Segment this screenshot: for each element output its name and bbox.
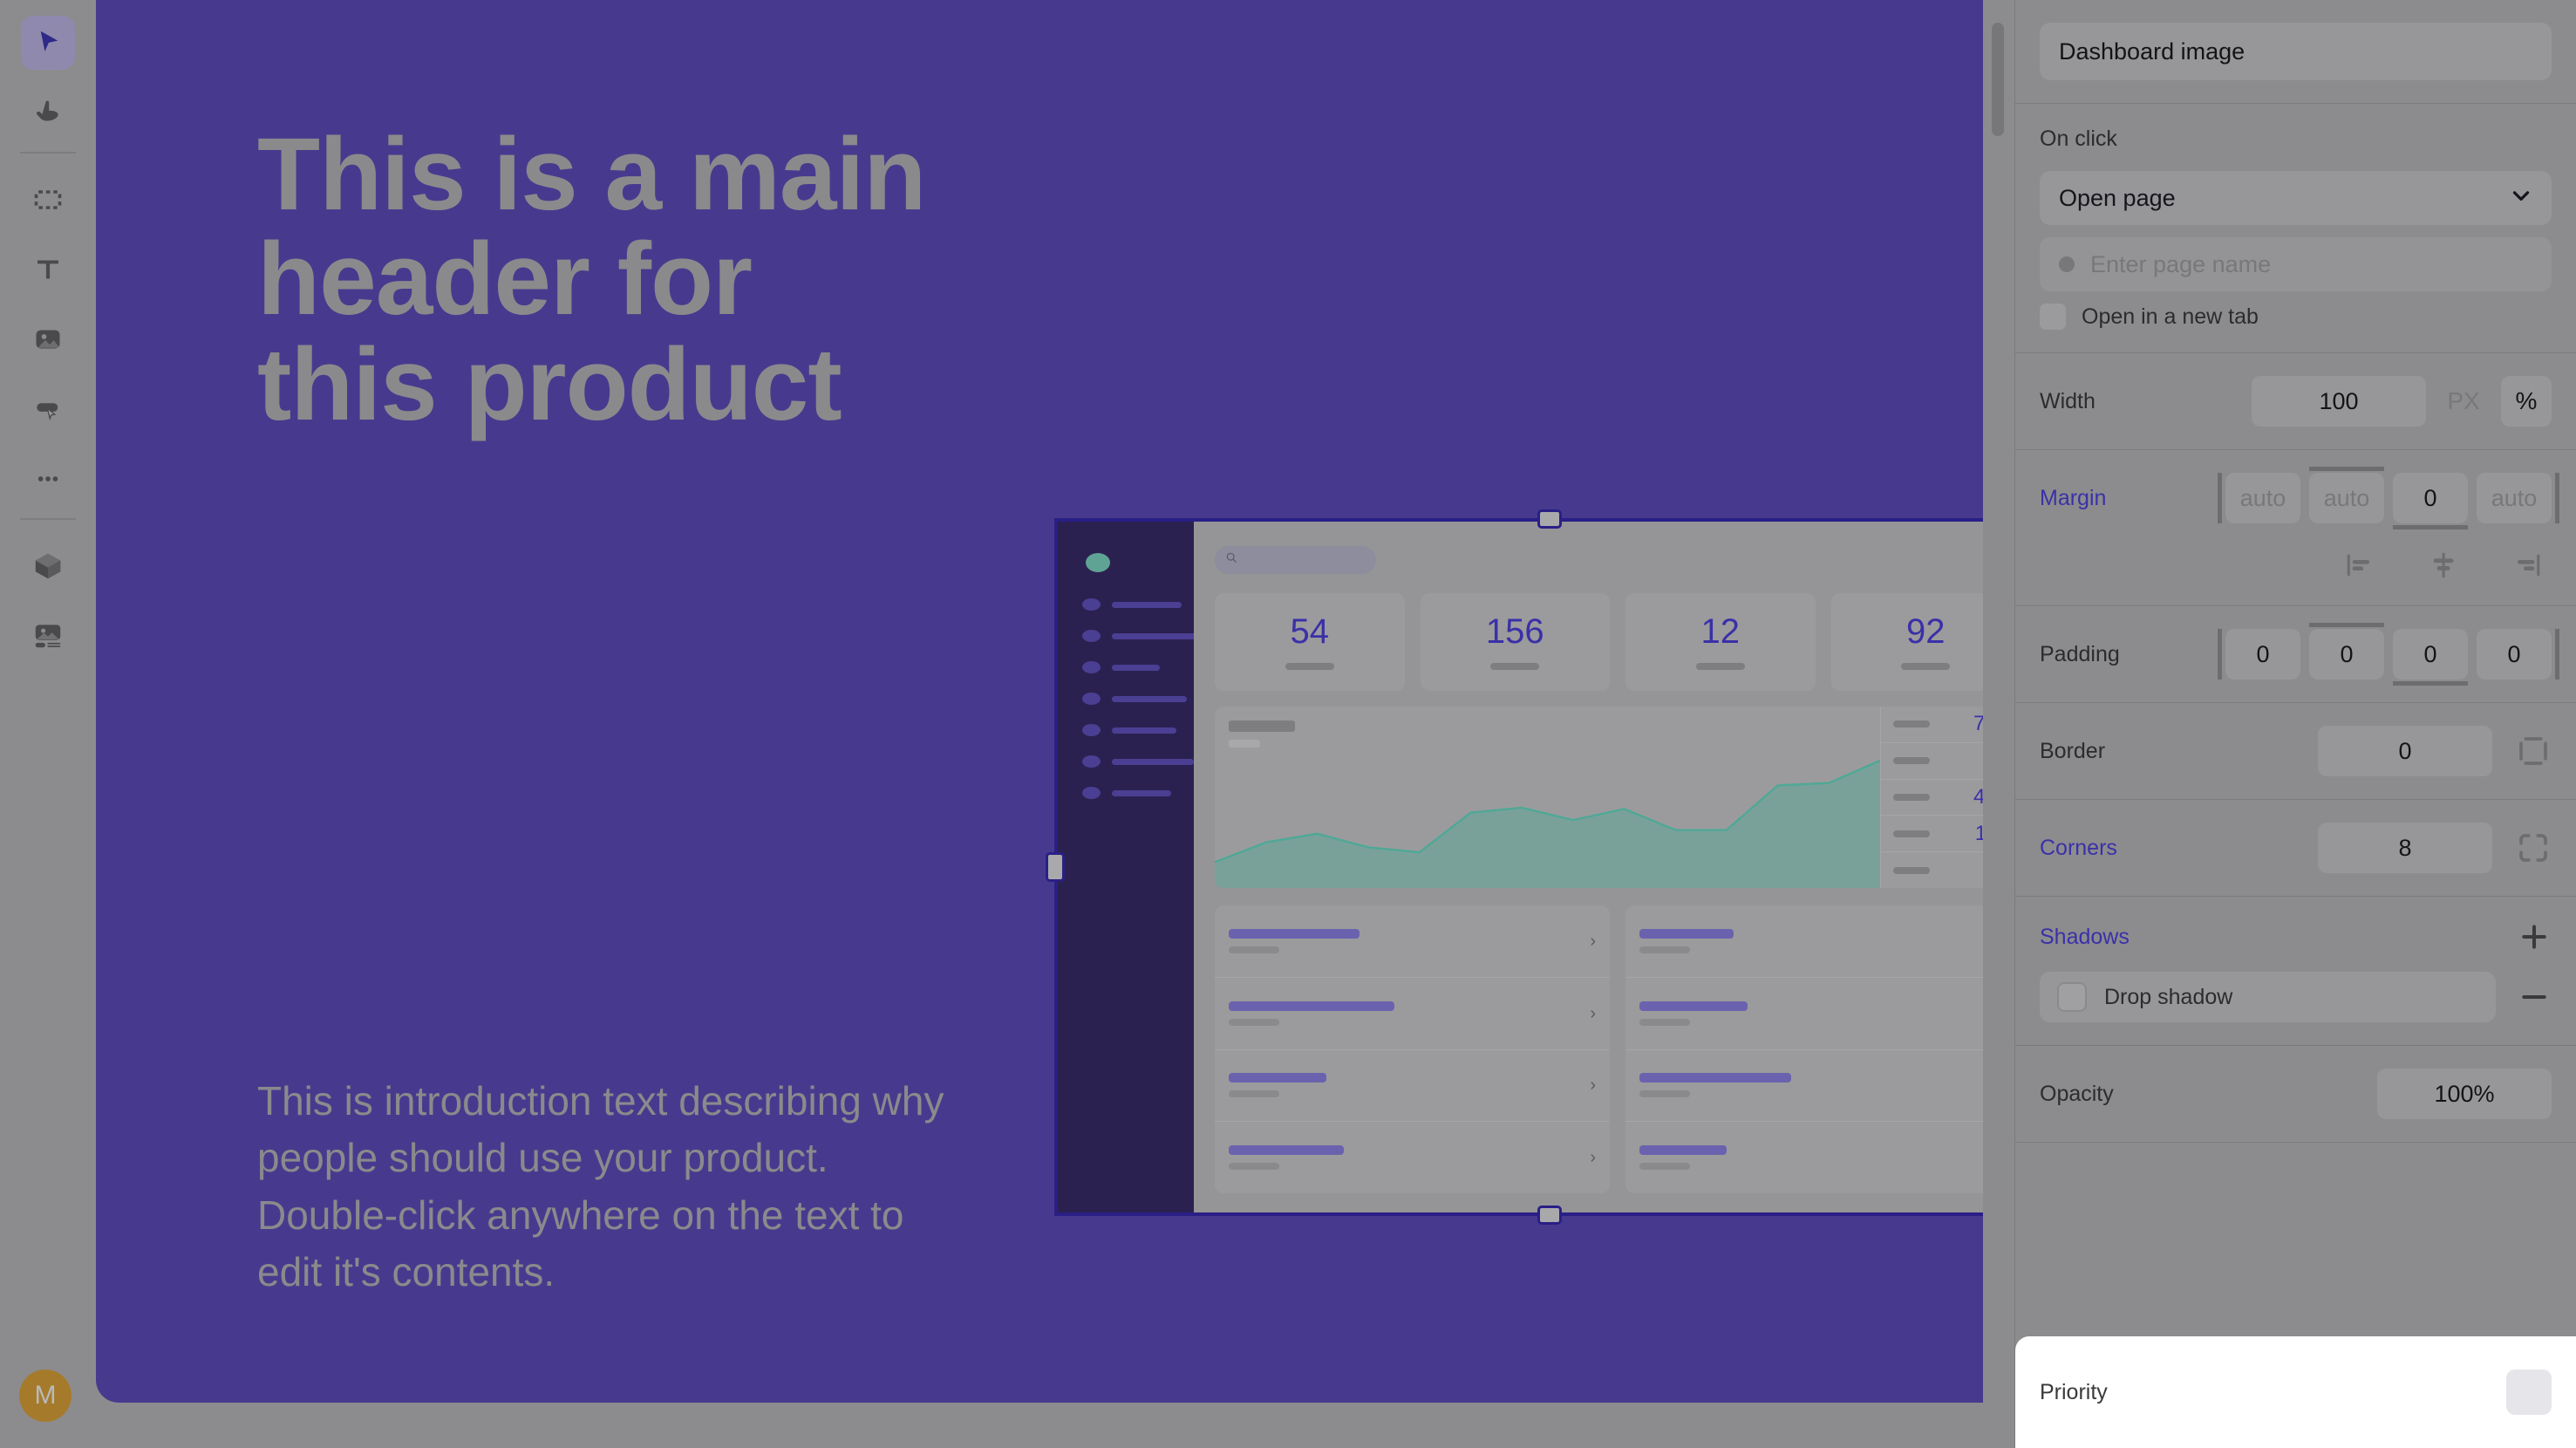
editor-canvas-area[interactable]: This is a main header for this product T…: [96, 0, 2014, 1448]
mock-chart-svg: [1215, 757, 1880, 888]
shadow-item: Drop shadow: [2040, 972, 2552, 1022]
page-canvas[interactable]: This is a main header for this product T…: [96, 0, 2014, 1403]
image-icon: [32, 324, 64, 355]
corners-controls: 8: [2318, 823, 2552, 873]
button-tool[interactable]: [21, 382, 75, 436]
cube-icon: [31, 550, 65, 583]
mock-stat-value: 54: [1291, 614, 1330, 649]
margin-inputs: auto auto 0 auto: [2106, 473, 2552, 523]
mock-main-area: 54 156 12 92: [1194, 522, 2014, 1212]
width-unit-px[interactable]: PX: [2438, 376, 2489, 427]
mock-list-row-text: [1229, 1001, 1394, 1026]
on-click-action-value: Open page: [2059, 185, 2176, 212]
mock-list-row-text: [1229, 1073, 1326, 1097]
search-icon: [1225, 551, 1238, 569]
mock-nav-label: [1112, 665, 1160, 671]
mock-nav-label: [1112, 790, 1171, 796]
toolbar-divider-2: [20, 518, 76, 520]
mock-list-row-text: [1639, 1073, 1791, 1097]
margin-bottom-input[interactable]: 0: [2393, 473, 2468, 523]
container-tool[interactable]: [21, 173, 75, 227]
margin-left-edge-indicator: [2218, 473, 2222, 523]
corners-section: Corners 8: [2015, 800, 2576, 897]
mock-nav-dot-icon: [1082, 598, 1101, 611]
mock-kpi-label: [1893, 757, 1930, 764]
text-tool[interactable]: [21, 242, 75, 297]
mock-list-row-sub: [1229, 946, 1279, 953]
element-name-section: Dashboard image: [2015, 0, 2576, 104]
open-new-tab-row[interactable]: Open in a new tab: [2040, 304, 2552, 330]
media-card-icon: [31, 619, 65, 652]
mock-stat-card: 54: [1215, 593, 1405, 691]
mock-nav-dot-icon: [1082, 693, 1101, 705]
margin-bottom-cell: 0: [2393, 473, 2468, 523]
mock-nav-dot-icon: [1082, 630, 1101, 642]
mock-kpi-label: [1893, 794, 1930, 801]
padding-left-cell: 0: [2225, 629, 2300, 680]
mock-stat-label: [1901, 663, 1950, 670]
text-t-icon: [32, 254, 64, 285]
padding-inputs: 0 0 0 0: [2120, 629, 2552, 680]
more-tool[interactable]: [21, 452, 75, 506]
mock-list-card: › › › ›: [1215, 905, 1610, 1193]
mock-chart-card: 732 34 467 112 87: [1215, 707, 2014, 888]
width-label: Width: [2040, 389, 2096, 414]
margin-left-input[interactable]: auto: [2225, 473, 2300, 523]
mock-logo-icon: [1086, 553, 1110, 572]
mock-stat-label: [1696, 663, 1745, 670]
open-new-tab-checkbox[interactable]: [2040, 304, 2066, 330]
padding-right-cell: 0: [2477, 629, 2552, 680]
minus-icon[interactable]: [2517, 980, 2552, 1014]
margin-right-input[interactable]: auto: [2477, 473, 2552, 523]
mock-lists-row: › › › › › › › ›: [1215, 905, 2014, 1193]
left-toolbar: M: [0, 0, 96, 1448]
mock-list-row: ›: [1625, 1050, 2014, 1123]
border-sides-icon[interactable]: [2515, 733, 2552, 769]
mock-list-row: ›: [1625, 1122, 2014, 1193]
chevron-right-icon: ›: [1590, 1076, 1596, 1094]
mock-stat-label: [1285, 663, 1334, 670]
width-controls: 100 PX %: [2252, 376, 2552, 427]
padding-left-input[interactable]: 0: [2225, 629, 2300, 680]
mock-list-row-title: [1639, 929, 1734, 939]
mock-list-row-text: [1229, 929, 1360, 953]
select-tool[interactable]: [21, 16, 75, 70]
card-template-tool[interactable]: [21, 609, 75, 663]
mock-nav-label: [1112, 602, 1182, 608]
mock-list-row-title: [1229, 1073, 1326, 1083]
toolbar-divider-1: [20, 152, 76, 154]
page-name-input[interactable]: Enter page name: [2040, 237, 2552, 291]
cursor-arrow-icon: [32, 27, 64, 58]
mock-nav-item: [1082, 724, 1176, 736]
mock-list-row: ›: [1215, 905, 1610, 978]
resize-handle-left[interactable]: [1046, 852, 1065, 882]
mock-stat-value: 12: [1701, 614, 1741, 649]
mock-kpi-label: [1893, 867, 1930, 874]
page-headline[interactable]: This is a main header for this product: [257, 122, 955, 437]
margin-right-cell: auto: [2477, 473, 2552, 523]
mock-stat-value: 156: [1486, 614, 1544, 649]
mock-nav-dot-icon: [1082, 755, 1101, 768]
padding-label: Padding: [2040, 642, 2120, 667]
plus-icon[interactable]: [2517, 919, 2552, 954]
ellipsis-icon: [32, 463, 64, 495]
hand-tool[interactable]: [21, 85, 75, 140]
page-bullet-icon: [2059, 256, 2075, 272]
page-name-placeholder: Enter page name: [2090, 251, 2271, 278]
mock-stat-label: [1490, 663, 1539, 670]
padding-bottom-cell: 0: [2393, 629, 2468, 680]
shadows-section: Shadows Drop shadow: [2015, 897, 2576, 1046]
corners-input[interactable]: 8: [2318, 823, 2492, 873]
padding-top-input[interactable]: 0: [2309, 629, 2384, 680]
shadows-label[interactable]: Shadows: [2040, 925, 2130, 950]
mock-nav-item: [1082, 661, 1160, 673]
mock-list-row-title: [1229, 1145, 1344, 1155]
mock-stat-card: 156: [1421, 593, 1611, 691]
margin-top-input[interactable]: auto: [2309, 473, 2384, 523]
opacity-input[interactable]: 100%: [2377, 1069, 2552, 1119]
drop-shadow-checkbox[interactable]: [2057, 982, 2087, 1012]
margin-left-cell: auto: [2225, 473, 2300, 523]
mock-chart-subtitle-placeholder: [1229, 740, 1260, 748]
corners-label[interactable]: Corners: [2040, 836, 2117, 861]
padding-top-cell: 0: [2309, 629, 2384, 680]
mock-nav-label: [1112, 759, 1194, 765]
mock-list-row: ›: [1215, 1050, 1610, 1123]
chevron-down-icon: [2508, 182, 2534, 215]
mock-list-row-title: [1639, 1145, 1727, 1155]
mock-nav-item: [1082, 693, 1187, 705]
on-click-section: On click Open page Enter page name Open …: [2015, 104, 2576, 353]
width-section: Width 100 PX %: [2015, 353, 2576, 450]
dashboard-image-element[interactable]: 54 156 12 92: [1058, 522, 2014, 1212]
priority-bar: Priority: [2015, 1336, 2576, 1448]
mock-nav-dot-icon: [1082, 724, 1101, 736]
mock-stats-row: 54 156 12 92: [1215, 593, 2014, 691]
mock-nav-item: [1082, 598, 1182, 611]
mock-nav-label: [1112, 727, 1176, 734]
padding-left-edge-indicator: [2218, 629, 2222, 680]
mock-search-field: [1215, 546, 1376, 574]
margin-bottom-edge-indicator: [2393, 525, 2468, 529]
mock-stat-value: 92: [1906, 614, 1946, 649]
component-tool[interactable]: [21, 539, 75, 593]
width-input[interactable]: 100: [2252, 376, 2426, 427]
on-click-action-select[interactable]: Open page: [2040, 171, 2552, 225]
mock-list-row-sub: [1229, 1090, 1279, 1097]
mock-sidebar: [1058, 522, 1194, 1212]
mock-kpi-label: [1893, 721, 1930, 727]
hand-pointer-icon: [32, 97, 64, 128]
padding-right-edge-indicator: [2555, 629, 2559, 680]
margin-label[interactable]: Margin: [2040, 486, 2106, 511]
padding-bottom-edge-indicator: [2393, 681, 2468, 686]
margin-right-edge-indicator: [2555, 473, 2559, 523]
mock-list-row: ›: [1625, 978, 2014, 1050]
mock-area-chart: [1215, 707, 1881, 888]
open-new-tab-label: Open in a new tab: [2082, 304, 2259, 330]
mock-nav-dot-icon: [1082, 661, 1101, 673]
mock-nav-item: [1082, 787, 1171, 799]
padding-right-input[interactable]: 0: [2477, 629, 2552, 680]
border-label: Border: [2040, 739, 2105, 764]
margin-top-edge-indicator: [2309, 467, 2384, 471]
corner-radius-icon[interactable]: [2515, 830, 2552, 866]
mock-list-row: ›: [1625, 905, 2014, 978]
mock-nav-item: [1082, 755, 1194, 768]
mock-list-card: › › › ›: [1625, 905, 2014, 1193]
mock-list-row-sub: [1639, 1090, 1690, 1097]
chevron-right-icon: ›: [1590, 1149, 1596, 1166]
resize-handle-top[interactable]: [1537, 509, 1562, 529]
opacity-section: Opacity 100%: [2015, 1046, 2576, 1143]
element-name-input[interactable]: Dashboard image: [2040, 23, 2552, 80]
mock-list-row-sub: [1229, 1163, 1279, 1170]
margin-section: Margin auto auto 0 auto: [2015, 450, 2576, 606]
mock-nav-dot-icon: [1082, 787, 1101, 799]
mock-list-row-sub: [1639, 1163, 1690, 1170]
properties-panel: Dashboard image On click Open page Enter…: [2014, 0, 2576, 1448]
margin-align-row: [2040, 548, 2552, 583]
dashed-rectangle-icon: [32, 184, 64, 215]
mock-list-row-text: [1639, 929, 1734, 953]
border-controls: 0: [2318, 726, 2552, 776]
mock-list-row-text: [1639, 1145, 1727, 1170]
mock-stat-card: 12: [1625, 593, 1816, 691]
align-left-icon[interactable]: [2342, 548, 2377, 583]
priority-label: Priority: [2040, 1380, 2108, 1405]
mock-list-row-text: [1639, 1001, 1748, 1026]
width-unit-percent[interactable]: %: [2501, 376, 2552, 427]
mock-chart-title-placeholder: [1229, 721, 1295, 732]
mock-list-row-title: [1229, 1001, 1394, 1011]
resize-handle-bottom[interactable]: [1537, 1206, 1562, 1225]
button-cursor-icon: [32, 393, 64, 425]
canvas-scrollbar-thumb[interactable]: [1992, 23, 2004, 136]
drop-shadow-label: Drop shadow: [2104, 985, 2232, 1010]
align-right-icon[interactable]: [2510, 548, 2545, 583]
mock-list-row-title: [1229, 929, 1360, 939]
margin-top-cell: auto: [2309, 473, 2384, 523]
border-section: Border 0: [2015, 703, 2576, 800]
mock-kpi-label: [1893, 830, 1930, 837]
mock-list-row-sub: [1229, 1019, 1279, 1026]
mock-list-row-title: [1639, 1073, 1791, 1083]
drop-shadow-row[interactable]: Drop shadow: [2040, 972, 2496, 1022]
on-click-label: On click: [2040, 126, 2552, 152]
mock-list-row-text: [1229, 1145, 1344, 1170]
user-avatar[interactable]: M: [19, 1369, 72, 1422]
mock-list-row-sub: [1639, 1019, 1690, 1026]
image-tool[interactable]: [21, 312, 75, 366]
padding-top-edge-indicator: [2309, 623, 2384, 627]
border-input[interactable]: 0: [2318, 726, 2492, 776]
mock-list-row-title: [1639, 1001, 1748, 1011]
chevron-right-icon: ›: [1590, 932, 1596, 950]
chevron-right-icon: ›: [1590, 1005, 1596, 1022]
mock-list-row: ›: [1215, 1122, 1610, 1193]
padding-section: Padding 0 0 0 0: [2015, 606, 2576, 703]
priority-toggle[interactable]: [2506, 1369, 2552, 1415]
mock-list-row-sub: [1639, 946, 1690, 953]
align-center-icon[interactable]: [2426, 548, 2461, 583]
canvas-scrollbar[interactable]: [1983, 0, 2014, 1448]
opacity-label: Opacity: [2040, 1082, 2114, 1107]
padding-bottom-input[interactable]: 0: [2393, 629, 2468, 680]
mock-nav-label: [1112, 696, 1187, 702]
page-intro-text[interactable]: This is introduction text describing why…: [257, 1073, 946, 1301]
mock-list-row: ›: [1215, 978, 1610, 1050]
